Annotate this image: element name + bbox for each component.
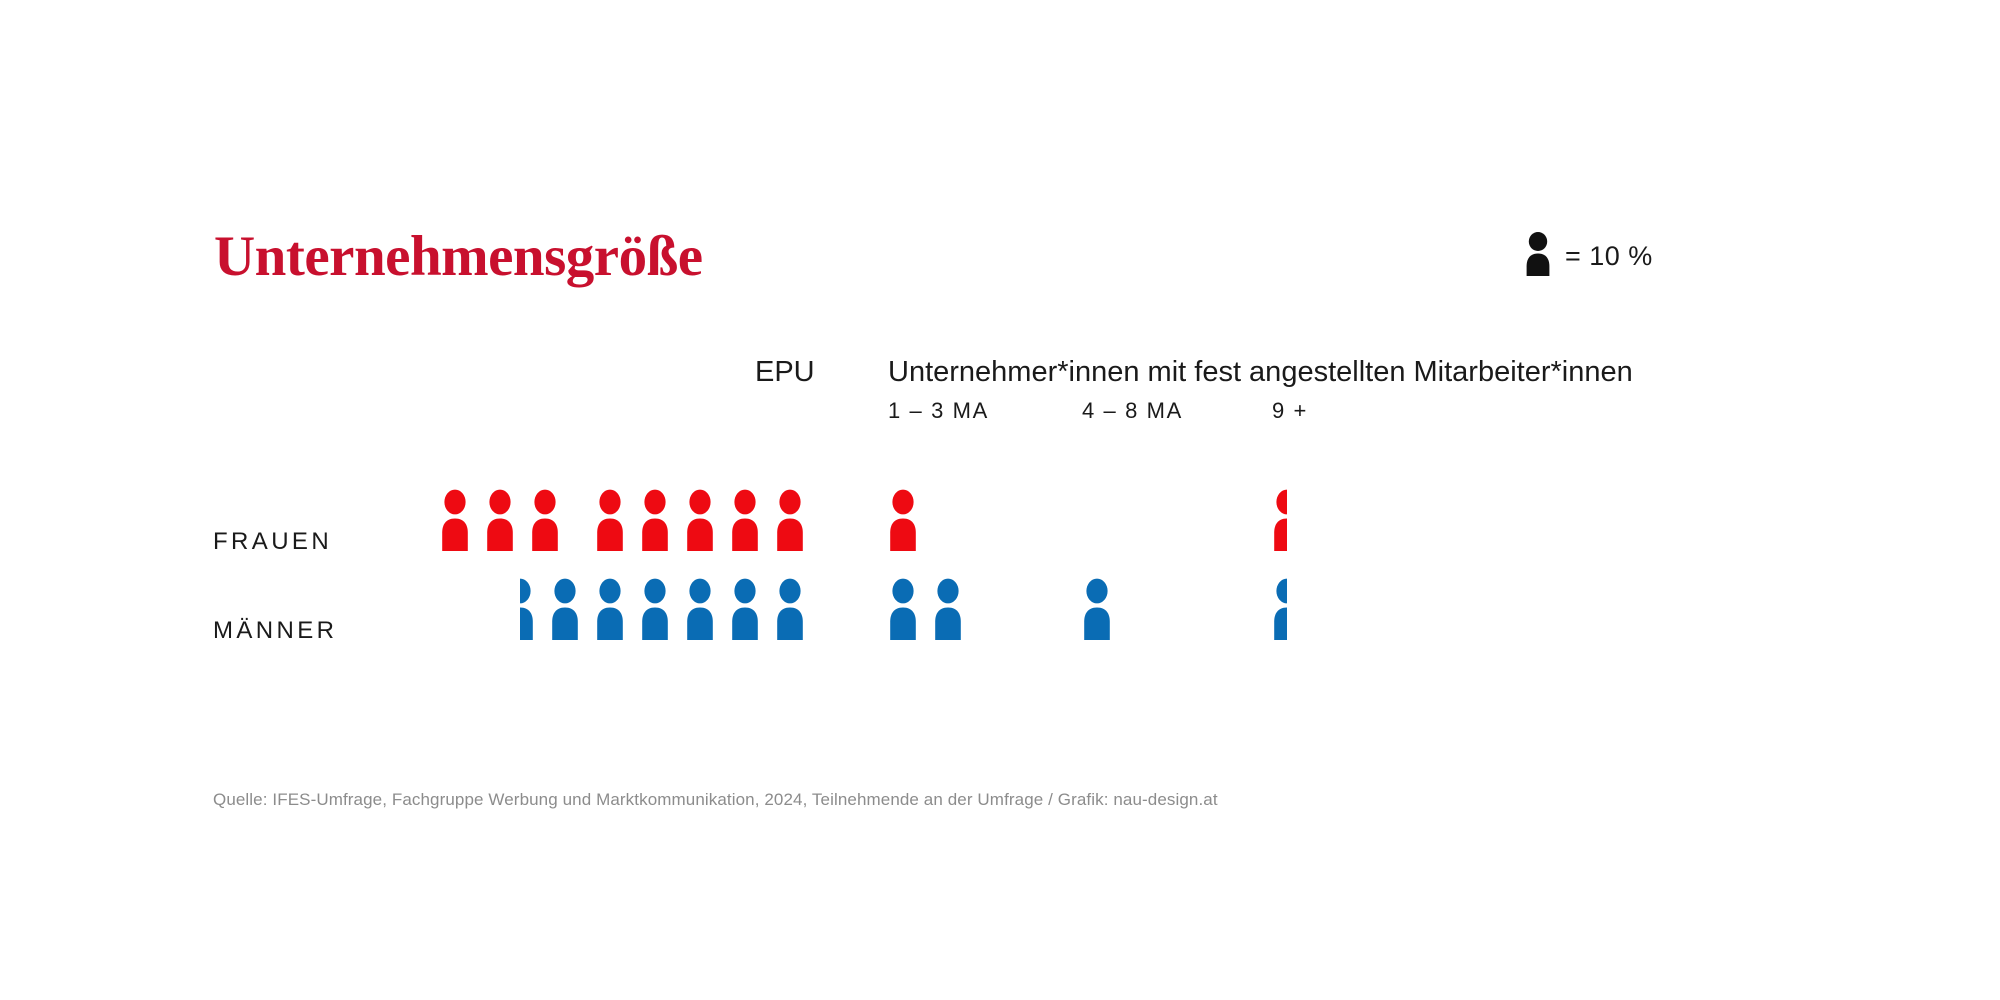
- pictogram-icon: [888, 489, 918, 551]
- sub-header-4-8-ma: 4 – 8 MA: [1082, 400, 1183, 422]
- pictogram-icon-partial: [1272, 578, 1287, 640]
- pictogram-group-4-8-ma: [1082, 576, 1127, 640]
- pictogram-icon: [640, 578, 670, 640]
- pictogram-icon: [595, 489, 625, 551]
- pictogram-icon: [1082, 578, 1112, 640]
- pictogram-group-1-3-ma: [888, 576, 978, 640]
- column-header-epu: EPU: [755, 358, 815, 387]
- pictogram-group-9-+: [1272, 487, 1317, 551]
- row-label-frauen: FRAUEN: [213, 530, 332, 554]
- legend-label: = 10 %: [1565, 241, 1653, 276]
- pictogram-icon: [595, 578, 625, 640]
- pictogram-icon: [933, 578, 963, 640]
- legend: = 10 %: [1525, 228, 1653, 276]
- pictogram-icon: [640, 489, 670, 551]
- pictogram-icon: [550, 578, 580, 640]
- person-icon: [1525, 232, 1551, 276]
- source-note: Quelle: IFES-Umfrage, Fachgruppe Werbung…: [213, 790, 1218, 810]
- pictogram-group-epu: [505, 576, 820, 640]
- pictogram-group-epu: [440, 487, 820, 551]
- pictogram-icon: [485, 489, 515, 551]
- pictogram-icon: [888, 578, 918, 640]
- pictogram-icon: [775, 578, 805, 640]
- pictogram-icon: [440, 489, 470, 551]
- pictogram-icon: [685, 489, 715, 551]
- row-label-maenner: MÄNNER: [213, 619, 337, 643]
- pictogram-icon-partial: [1272, 489, 1287, 551]
- pictogram-icon: [530, 489, 560, 551]
- pictogram-icon: [730, 578, 760, 640]
- sub-header-1-3-ma: 1 – 3 MA: [888, 400, 989, 422]
- page-title: Unternehmensgröße: [214, 228, 703, 285]
- pictogram-icon: [730, 489, 760, 551]
- pictogram-icon: [685, 578, 715, 640]
- pictogram-group-9-+: [1272, 576, 1317, 640]
- column-header-employees: Unternehmer*innen mit fest angestellten …: [888, 358, 1633, 387]
- pictogram-group-1-3-ma: [888, 487, 933, 551]
- sub-header-9-plus: 9 +: [1272, 400, 1308, 422]
- pictogram-icon-partial: [520, 578, 535, 640]
- infographic-canvas: Unternehmensgröße = 10 % EPU Unternehmer…: [0, 0, 2000, 1000]
- pictogram-icon: [775, 489, 805, 551]
